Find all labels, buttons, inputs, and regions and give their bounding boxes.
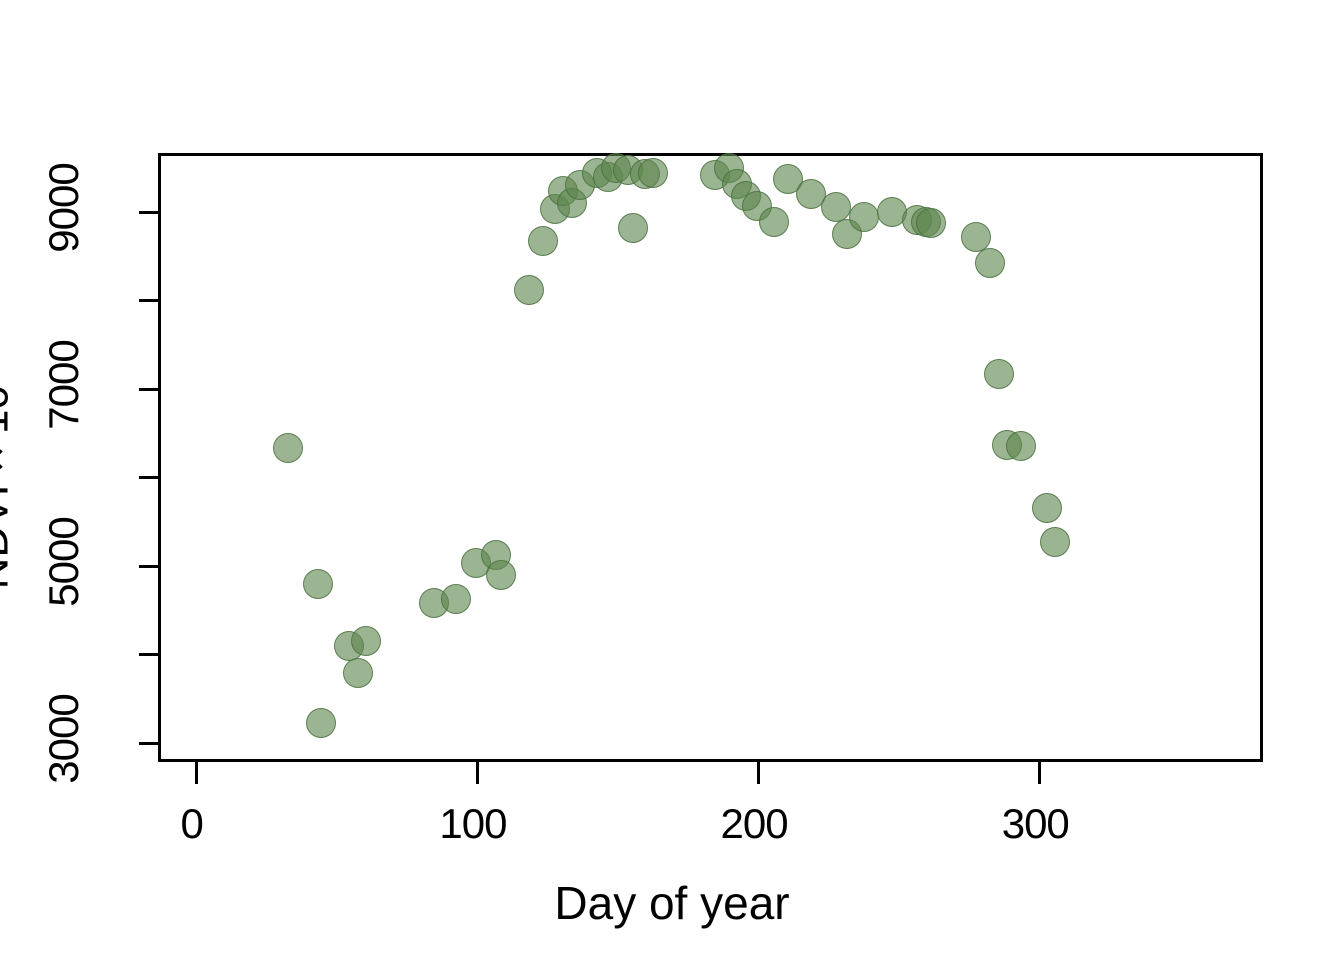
- y-axis-tick: [139, 565, 161, 568]
- scatter-point: [1040, 527, 1070, 557]
- y-axis-tick: [139, 299, 161, 302]
- y-axis-tick: [139, 476, 161, 479]
- scatter-point: [984, 359, 1014, 389]
- x-axis-tick-label: 0: [181, 800, 203, 848]
- x-axis-tick: [1038, 759, 1041, 784]
- scatter-point: [343, 658, 373, 688]
- scatter-point: [638, 158, 668, 188]
- chart-canvas: NDVI × 104 3000500070009000 0100200300 D…: [0, 0, 1344, 960]
- y-axis-tick: [139, 742, 161, 745]
- x-axis-tick-label: 200: [721, 800, 788, 848]
- y-axis-tick: [139, 653, 161, 656]
- y-axis-label-text: NDVI × 10: [0, 385, 18, 589]
- scatter-point: [821, 192, 851, 222]
- scatter-point: [303, 569, 333, 599]
- x-axis-tick: [195, 759, 198, 784]
- y-axis-label: NDVI × 104: [0, 371, 19, 590]
- y-axis-tick-label: 7000: [40, 340, 88, 429]
- scatter-point: [975, 248, 1005, 278]
- y-axis-tick: [139, 388, 161, 391]
- scatter-point: [916, 208, 946, 238]
- y-axis-tick: [139, 211, 161, 214]
- scatter-point: [273, 433, 303, 463]
- scatter-point: [849, 202, 879, 232]
- scatter-point: [528, 226, 558, 256]
- y-axis-tick-label: 9000: [40, 163, 88, 252]
- scatter-point: [759, 207, 789, 237]
- scatter-point: [486, 560, 516, 590]
- x-axis-tick: [757, 759, 760, 784]
- scatter-point: [306, 708, 336, 738]
- scatter-point: [441, 584, 471, 614]
- scatter-point: [1006, 431, 1036, 461]
- scatter-point: [514, 275, 544, 305]
- scatter-points: [161, 156, 1260, 759]
- x-axis-tick-label: 300: [1002, 800, 1069, 848]
- scatter-point: [618, 213, 648, 243]
- scatter-point: [351, 626, 381, 656]
- x-axis-label: Day of year: [554, 876, 789, 930]
- scatter-point: [1032, 493, 1062, 523]
- x-axis-tick-label: 100: [439, 800, 506, 848]
- y-axis-tick-label: 5000: [40, 517, 88, 606]
- plot-area: [158, 153, 1263, 762]
- y-axis-tick-label: 3000: [40, 694, 88, 783]
- x-axis-tick: [476, 759, 479, 784]
